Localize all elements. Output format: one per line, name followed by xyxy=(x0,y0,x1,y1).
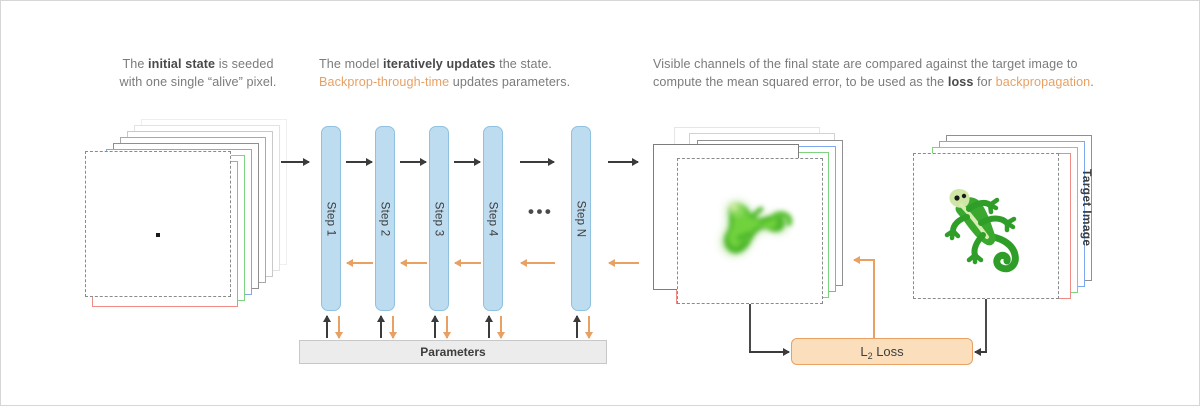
output-to-loss-line-vertical xyxy=(749,304,751,352)
lizard-output-icon xyxy=(701,186,805,278)
lizard-target-icon xyxy=(937,179,1041,279)
step-label-n: Step N xyxy=(575,200,588,237)
caption-loss-description: Visible channels of the final state are … xyxy=(653,55,1113,91)
diagram-canvas: The initial state is seeded with one sin… xyxy=(0,0,1200,406)
step-column-1[interactable]: Step 1 xyxy=(321,126,341,311)
parameters-box[interactable]: Parameters xyxy=(299,340,607,364)
arrow-right-icon xyxy=(749,351,789,353)
arrow-up-icon xyxy=(576,316,578,338)
step-label-4: Step 4 xyxy=(487,201,500,236)
step-label-2: Step 2 xyxy=(379,201,392,236)
parameters-label: Parameters xyxy=(420,345,485,359)
step-label-1: Step 1 xyxy=(325,201,338,236)
arrow-left-icon xyxy=(521,262,555,264)
arrow-right-icon xyxy=(346,161,372,163)
step-label-3: Step 3 xyxy=(433,201,446,236)
caption-loss-line2: compute the mean squared error, to be us… xyxy=(653,75,1094,89)
arrow-down-icon xyxy=(392,316,394,338)
arrow-right-icon xyxy=(400,161,426,163)
arrow-right-icon xyxy=(281,161,309,163)
arrow-left-icon xyxy=(401,262,427,264)
step-column-4[interactable]: Step 4 xyxy=(483,126,503,311)
arrow-right-icon xyxy=(454,161,480,163)
caption-initial-line1: The initial state is seeded xyxy=(122,57,273,71)
target-to-loss-line-vertical xyxy=(985,299,987,352)
arrow-up-icon xyxy=(380,316,382,338)
arrow-up-icon xyxy=(326,316,328,338)
caption-steps-line2: Backprop-through-time updates parameters… xyxy=(319,75,570,89)
arrow-down-icon xyxy=(588,316,590,338)
arrow-up-icon xyxy=(434,316,436,338)
pixel-dot-icon xyxy=(156,233,160,237)
caption-loss-line1: Visible channels of the final state are … xyxy=(653,57,1078,71)
loss-backprop-line-vertical xyxy=(873,259,875,339)
arrow-down-icon xyxy=(500,316,502,338)
caption-initial-line2: with one single “alive” pixel. xyxy=(120,75,277,89)
arrow-left-icon xyxy=(347,262,373,264)
l2-loss-box[interactable]: L2 Loss xyxy=(791,338,973,365)
caption-iterative-updates: The model iteratively updates the state.… xyxy=(319,55,609,91)
caption-steps-line1: The model iteratively updates the state. xyxy=(319,57,552,71)
arrow-right-icon xyxy=(520,161,554,163)
arrow-left-icon xyxy=(609,262,639,264)
step-column-n[interactable]: Step N xyxy=(571,126,591,311)
steps-ellipsis: ••• xyxy=(528,203,553,220)
caption-initial-state: The initial state is seeded with one sin… xyxy=(93,55,303,91)
arrow-left-icon xyxy=(854,259,875,261)
step-column-2[interactable]: Step 2 xyxy=(375,126,395,311)
arrow-down-icon xyxy=(446,316,448,338)
arrow-up-icon xyxy=(488,316,490,338)
arrow-left-icon xyxy=(975,351,987,353)
arrow-right-icon xyxy=(608,161,638,163)
loss-label: L2 Loss xyxy=(860,344,903,359)
target-image-label: Target Image xyxy=(1080,169,1094,246)
channel-sheet-visible-dashed xyxy=(85,151,231,297)
step-column-3[interactable]: Step 3 xyxy=(429,126,449,311)
arrow-left-icon xyxy=(455,262,481,264)
arrow-down-icon xyxy=(338,316,340,338)
